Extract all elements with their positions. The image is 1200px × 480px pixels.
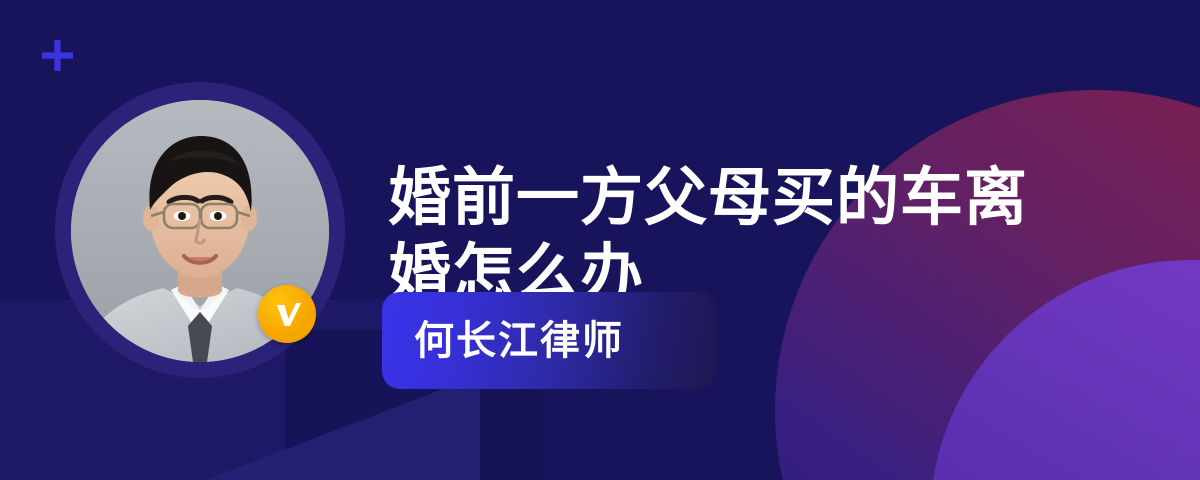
verified-check-icon [258, 285, 316, 343]
plus-icon [42, 40, 73, 71]
avatar [55, 82, 345, 378]
page-title: 婚前一方父母买的车离婚怎么办 [388, 160, 1088, 312]
legal-qa-banner: 婚前一方父母买的车离婚怎么办 何长江律师 [0, 0, 1200, 480]
lawyer-name-badge[interactable]: 何长江律师 [382, 292, 716, 389]
lawyer-name-label: 何长江律师 [414, 321, 624, 361]
